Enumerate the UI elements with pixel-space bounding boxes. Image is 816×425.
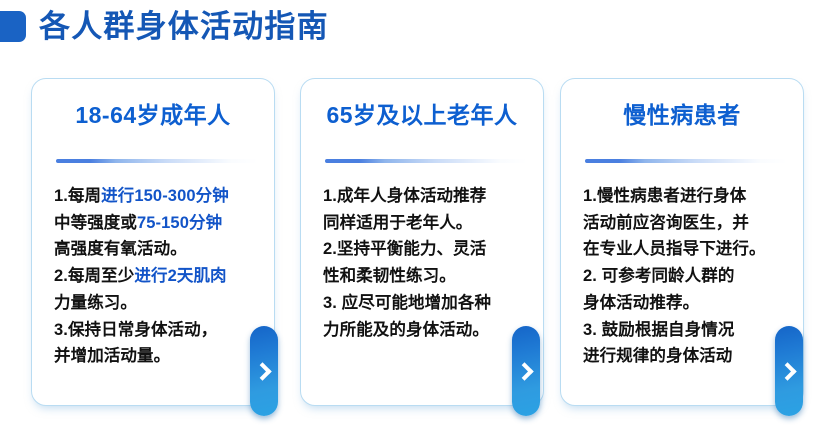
body-text-emphasis: 75-150分钟 <box>137 214 222 232</box>
body-text-run: 身体活动推荐。 <box>583 294 699 312</box>
card-divider <box>56 159 258 163</box>
card-body-line: 同样适用于老年人。 <box>323 210 529 237</box>
guideline-card-adults[interactable]: 18-64岁成年人 1.每周进行150-300分钟中等强度或75-150分钟高强… <box>31 78 275 406</box>
card-next-button-chronic-patients[interactable] <box>775 326 803 416</box>
guideline-card-chronic-patients[interactable]: 慢性病患者 1.慢性病患者进行身体活动前应咨询医生，并在专业人员指导下进行。2.… <box>560 78 804 406</box>
guideline-card-seniors[interactable]: 65岁及以上老年人 1.成年人身体活动推荐同样适用于老年人。2.坚持平衡能力、灵… <box>300 78 544 406</box>
body-text-run: 2. 可参考同龄人群的 <box>583 267 734 285</box>
body-text-run: 3. 鼓励根据自身情况 <box>583 321 734 339</box>
card-body-line: 1.慢性病患者进行身体 <box>583 183 789 210</box>
card-body-line: 高强度有氧活动。 <box>54 236 260 263</box>
card-divider <box>585 159 787 163</box>
body-text-run: 中等强度或 <box>54 214 137 232</box>
body-text-run: 并增加活动量。 <box>54 347 170 365</box>
body-text-run: 活动前应咨询医生，并 <box>583 214 749 232</box>
body-text-run: 进行规律的身体活动 <box>583 347 732 365</box>
card-body-line: 中等强度或75-150分钟 <box>54 210 260 237</box>
body-text-emphasis: 进行2天肌肉 <box>134 267 226 285</box>
card-body-line: 1.成年人身体活动推荐 <box>323 183 529 210</box>
card-body-line: 并增加活动量。 <box>54 343 260 370</box>
body-text-run: 1.慢性病患者进行身体 <box>583 187 746 205</box>
card-body-text: 1.慢性病患者进行身体活动前应咨询医生，并在专业人员指导下进行。2. 可参考同龄… <box>583 183 789 370</box>
chevron-right-icon <box>778 362 796 380</box>
body-text-run: 性和柔韧性练习。 <box>323 267 456 285</box>
body-text-run: 力量练习。 <box>54 294 137 312</box>
page-header: 各人群身体活动指南 <box>0 4 329 48</box>
card-body-line: 性和柔韧性练习。 <box>323 263 529 290</box>
card-body-line: 1.每周进行150-300分钟 <box>54 183 260 210</box>
card-body-text: 1.每周进行150-300分钟中等强度或75-150分钟高强度有氧活动。2.每周… <box>54 183 260 370</box>
header-accent-square <box>0 11 26 42</box>
body-text-run: 同样适用于老年人。 <box>323 214 472 232</box>
body-text-run: 高强度有氧活动。 <box>54 240 187 258</box>
card-body-line: 进行规律的身体活动 <box>583 343 789 370</box>
card-title: 65岁及以上老年人 <box>301 103 543 128</box>
card-title: 慢性病患者 <box>561 103 803 128</box>
body-text-run: 1.成年人身体活动推荐 <box>323 187 486 205</box>
card-body-line: 3. 应尽可能地增加各种 <box>323 290 529 317</box>
body-text-run: 2.坚持平衡能力、灵活 <box>323 240 486 258</box>
body-text-emphasis: 进行150-300分钟 <box>101 187 229 205</box>
card-next-button-adults[interactable] <box>250 326 278 416</box>
card-body-line: 2.坚持平衡能力、灵活 <box>323 236 529 263</box>
chevron-right-icon <box>515 362 533 380</box>
body-text-run: 1.每周 <box>54 187 101 205</box>
card-title: 18-64岁成年人 <box>32 103 274 128</box>
card-body-line: 3.保持日常身体活动， <box>54 317 260 344</box>
card-body-line: 3. 鼓励根据自身情况 <box>583 317 789 344</box>
card-body-line: 力所能及的身体活动。 <box>323 317 529 344</box>
card-body-text: 1.成年人身体活动推荐同样适用于老年人。2.坚持平衡能力、灵活性和柔韧性练习。3… <box>323 183 529 343</box>
card-body-line: 活动前应咨询医生，并 <box>583 210 789 237</box>
card-body-line: 2. 可参考同龄人群的 <box>583 263 789 290</box>
page-title: 各人群身体活动指南 <box>39 11 329 42</box>
card-body-line: 力量练习。 <box>54 290 260 317</box>
body-text-run: 在专业人员指导下进行。 <box>583 240 766 258</box>
card-next-button-seniors[interactable] <box>512 326 540 416</box>
card-body-line: 2.每周至少进行2天肌肉 <box>54 263 260 290</box>
body-text-run: 力所能及的身体活动。 <box>323 321 489 339</box>
body-text-run: 3.保持日常身体活动， <box>54 321 217 339</box>
card-divider <box>325 159 527 163</box>
chevron-right-icon <box>253 362 271 380</box>
card-body-line: 在专业人员指导下进行。 <box>583 236 789 263</box>
guideline-cards-row: 18-64岁成年人 1.每周进行150-300分钟中等强度或75-150分钟高强… <box>0 78 816 410</box>
body-text-run: 3. 应尽可能地增加各种 <box>323 294 491 312</box>
body-text-run: 2.每周至少 <box>54 267 134 285</box>
card-body-line: 身体活动推荐。 <box>583 290 789 317</box>
